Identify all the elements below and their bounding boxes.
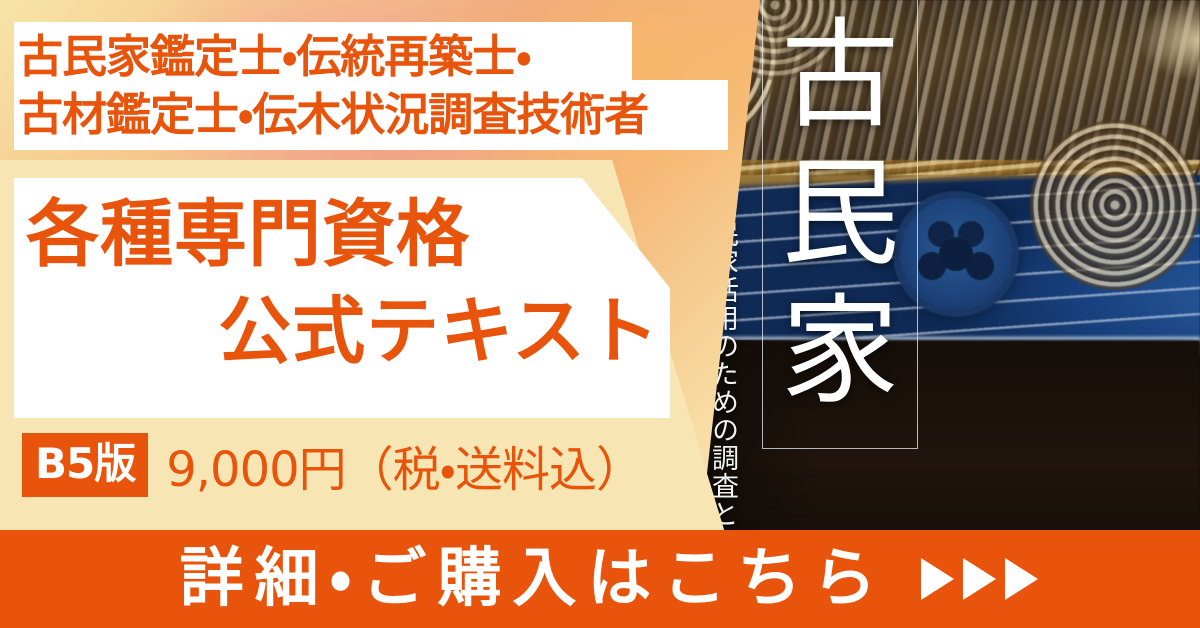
chevron-right-icon bbox=[921, 558, 954, 600]
page-title: 各種専門資格 公式テキスト bbox=[20, 186, 668, 380]
wood-swirl-icon bbox=[1030, 120, 1200, 290]
price-text: 9,000円（税・送料込） bbox=[166, 430, 643, 500]
headline-line-2: 公式テキスト bbox=[20, 283, 668, 380]
chevron-right-icon bbox=[1005, 558, 1038, 600]
headline-line-1: 各種専門資格 bbox=[20, 186, 668, 283]
cover-title-char: 家 bbox=[770, 282, 910, 420]
cover-title-char: 民 bbox=[770, 144, 910, 282]
format-badge: B5版 bbox=[22, 433, 148, 497]
cta-button[interactable]: 詳細・ご購入はこちら bbox=[0, 530, 1200, 628]
cover-title: 古 民 家 bbox=[770, 6, 910, 420]
certification-line-2: 古材鑑定士・伝木状況調査技術者 bbox=[18, 86, 718, 144]
cover-title-char: 古 bbox=[770, 6, 910, 144]
price-row: B5版 9,000円（税・送料込） bbox=[22, 430, 643, 500]
cta-arrows bbox=[921, 558, 1038, 600]
promo-banner: 古 民 家 伝統構法、古民家活用のための調査と再生の 古民家鑑定士・伝統再築士・… bbox=[0, 0, 1200, 628]
chevron-right-icon bbox=[963, 558, 996, 600]
certifications-text: 古民家鑑定士・伝統再築士・ 古材鑑定士・伝木状況調査技術者 bbox=[18, 28, 718, 143]
certification-line-1: 古民家鑑定士・伝統再築士・ bbox=[18, 28, 718, 86]
cta-label: 詳細・ご購入はこちら bbox=[180, 547, 888, 611]
